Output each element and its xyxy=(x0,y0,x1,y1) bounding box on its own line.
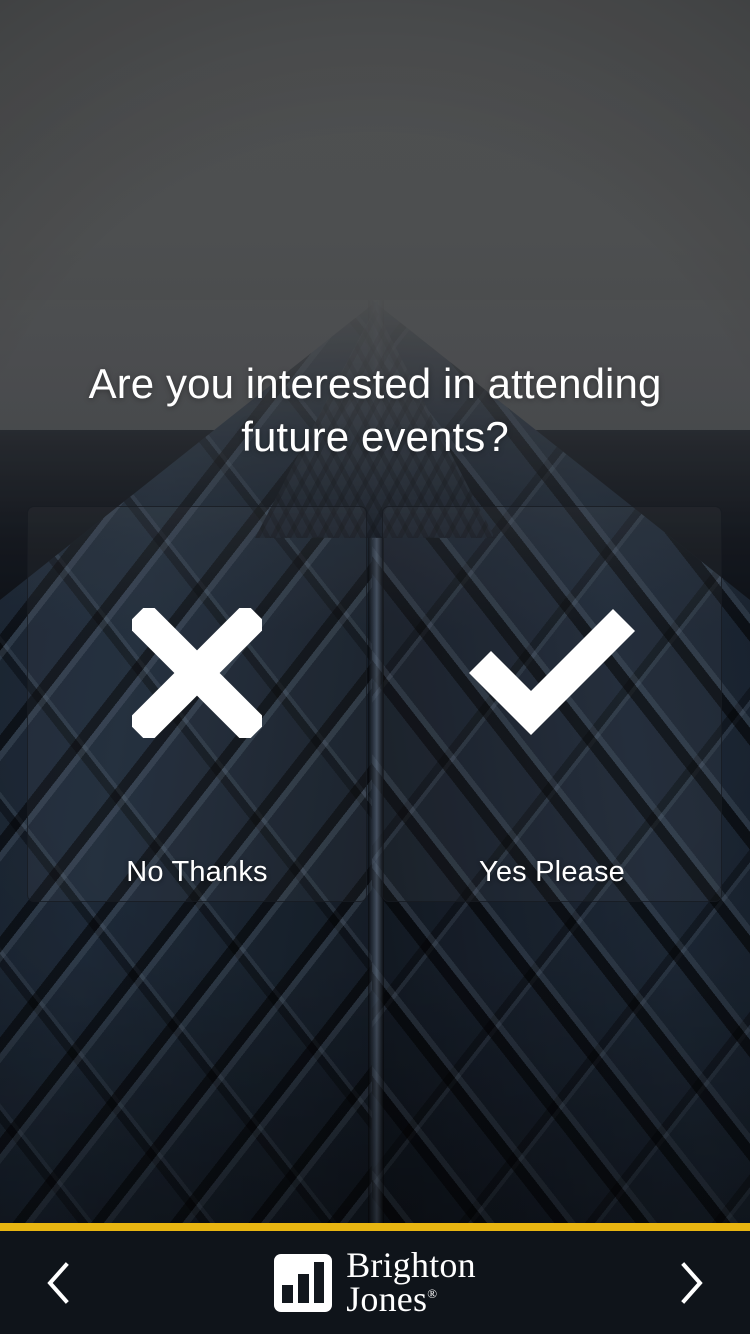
logo-bar-3 xyxy=(314,1262,325,1303)
chevron-left-icon xyxy=(45,1261,71,1305)
x-mark-icon xyxy=(132,608,262,738)
check-mark-icon xyxy=(469,607,635,739)
registered-trademark-symbol: ® xyxy=(427,1286,437,1301)
accent-rule xyxy=(0,1223,750,1231)
logo-wordmark-line-1: Brighton xyxy=(346,1249,476,1283)
brighton-jones-logo: Brighton Jones® xyxy=(274,1249,476,1317)
option-yes-please[interactable]: Yes Please xyxy=(382,506,722,902)
chevron-right-icon xyxy=(679,1261,705,1305)
survey-screen: Are you interested in attending future e… xyxy=(0,0,750,1334)
option-yes-label: Yes Please xyxy=(479,856,625,901)
previous-button[interactable] xyxy=(30,1253,86,1313)
bottom-navigation-bar: Brighton Jones® xyxy=(0,1231,750,1334)
option-yes-icon-area xyxy=(383,507,721,856)
option-no-icon-area xyxy=(28,507,366,856)
option-no-label: No Thanks xyxy=(126,856,268,901)
logo-wordmark: Brighton Jones® xyxy=(346,1249,476,1317)
logo-wordmark-jones: Jones xyxy=(346,1279,427,1319)
bar-chart-logo-icon xyxy=(274,1254,332,1312)
logo-bar-2 xyxy=(298,1274,309,1303)
survey-content: Are you interested in attending future e… xyxy=(0,0,750,1334)
option-no-thanks[interactable]: No Thanks xyxy=(27,506,367,902)
question-text: Are you interested in attending future e… xyxy=(55,358,695,463)
next-button[interactable] xyxy=(664,1253,720,1313)
answer-options: No Thanks Yes Please xyxy=(27,506,722,902)
logo-wordmark-line-2: Jones® xyxy=(346,1283,476,1317)
logo-bar-1 xyxy=(282,1285,293,1302)
